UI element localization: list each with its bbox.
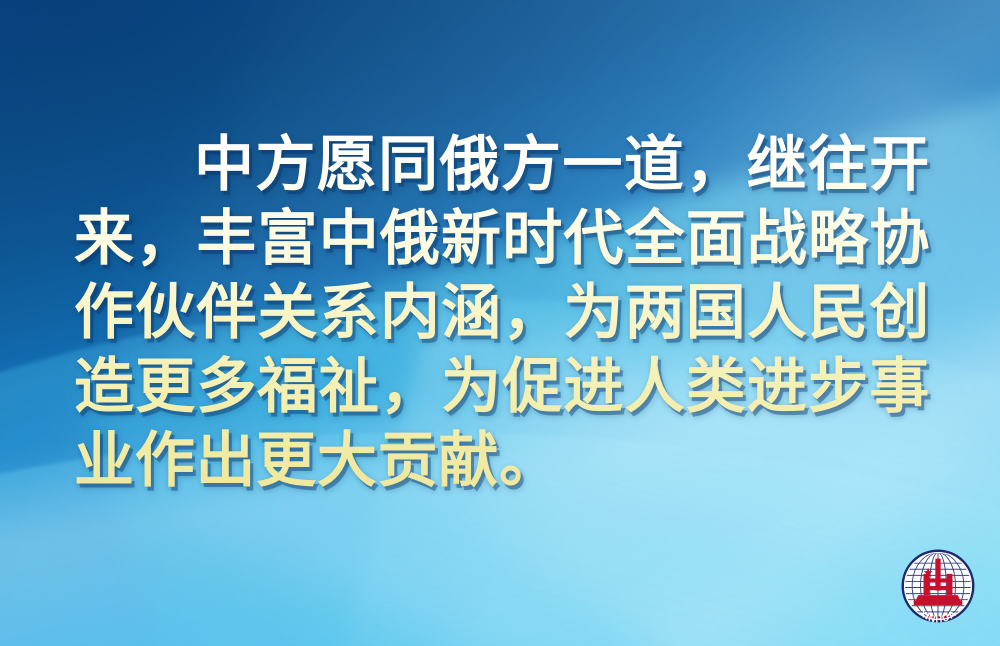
xinhua-logo: XINHUA [900, 548, 976, 624]
quote-text: 中方愿同俄方一道，继往开来，丰富中俄新时代全面战略协作伙伴关系内涵，为两国人民创… [74, 128, 930, 498]
quote-card: 中方愿同俄方一道，继往开来，丰富中俄新时代全面战略协作伙伴关系内涵，为两国人民创… [0, 0, 1000, 646]
xinhua-logo-icon: XINHUA [900, 548, 976, 624]
